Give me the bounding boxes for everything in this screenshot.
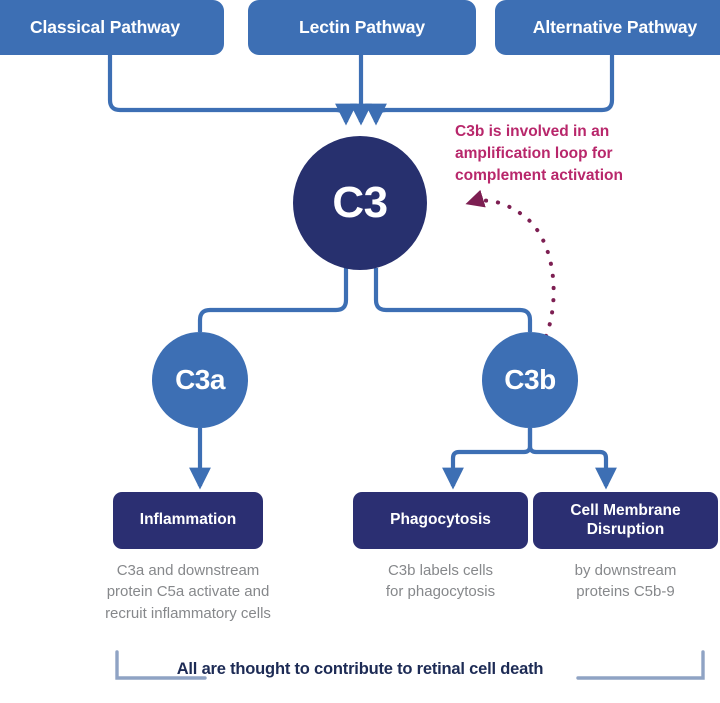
node-circle-c3b[interactable]: C3b [482, 332, 578, 428]
node-label-c3b: C3b [504, 364, 555, 396]
pathway-box-classical[interactable]: Classical Pathway [0, 0, 224, 55]
caption-cmd-line-2: proteins C5b-9 [538, 581, 713, 602]
pathway-box-alternative[interactable]: Alternative Pathway [495, 0, 720, 55]
node-circle-c3[interactable]: C3 [293, 136, 427, 270]
connector-alternative-to-c3 [376, 55, 612, 122]
complement-cascade-diagram: Classical Pathway Lectin Pathway Alterna… [0, 0, 720, 703]
summary-bracket-right [578, 652, 703, 678]
amplification-loop-arrow [469, 201, 554, 336]
amplification-annotation-line-3: complement activation [455, 165, 700, 187]
caption-cmd-line-1: by downstream [538, 560, 713, 581]
outcome-box-cell-membrane-disruption[interactable]: Cell Membrane Disruption [533, 492, 718, 549]
connector-classical-to-c3 [110, 55, 346, 122]
caption-phagocytosis: C3b labels cells for phagocytosis [358, 560, 523, 603]
pathway-box-lectin[interactable]: Lectin Pathway [248, 0, 476, 55]
outcome-label-cmd-line-1: Cell Membrane [570, 502, 680, 519]
node-label-c3a: C3a [175, 364, 225, 396]
caption-inflammation-line-1: C3a and downstream [88, 560, 288, 581]
connector-c3-to-c3a [200, 268, 346, 332]
pathway-label-alternative: Alternative Pathway [533, 17, 697, 38]
caption-inflammation-line-3: recruit inflammatory cells [88, 603, 288, 624]
summary-statement: All are thought to contribute to retinal… [160, 660, 560, 679]
amplification-annotation-line-2: amplification loop for [455, 143, 700, 165]
outcome-box-phagocytosis[interactable]: Phagocytosis [353, 492, 528, 549]
connector-c3-to-c3b [376, 268, 530, 332]
outcome-box-inflammation[interactable]: Inflammation [113, 492, 263, 549]
pathway-label-lectin: Lectin Pathway [299, 17, 425, 38]
amplification-annotation: C3b is involved in an amplification loop… [455, 121, 700, 187]
caption-inflammation-line-2: protein C5a activate and [88, 581, 288, 602]
node-label-c3: C3 [332, 178, 387, 228]
caption-inflammation: C3a and downstream protein C5a activate … [88, 560, 288, 624]
node-circle-c3a[interactable]: C3a [152, 332, 248, 428]
connector-c3b-to-phagocytosis [453, 428, 530, 486]
outcome-label-cmd-line-2: Disruption [587, 521, 665, 538]
outcome-label-inflammation: Inflammation [140, 511, 236, 530]
pathway-label-classical: Classical Pathway [30, 17, 180, 38]
caption-phagocytosis-line-2: for phagocytosis [358, 581, 523, 602]
outcome-label-phagocytosis: Phagocytosis [390, 511, 491, 530]
outcome-label-cell-membrane-disruption: Cell Membrane Disruption [570, 502, 680, 540]
amplification-annotation-line-1: C3b is involved in an [455, 121, 700, 143]
connector-c3b-to-cell-membrane-disruption [530, 428, 606, 486]
caption-cell-membrane-disruption: by downstream proteins C5b-9 [538, 560, 713, 603]
caption-phagocytosis-line-1: C3b labels cells [358, 560, 523, 581]
